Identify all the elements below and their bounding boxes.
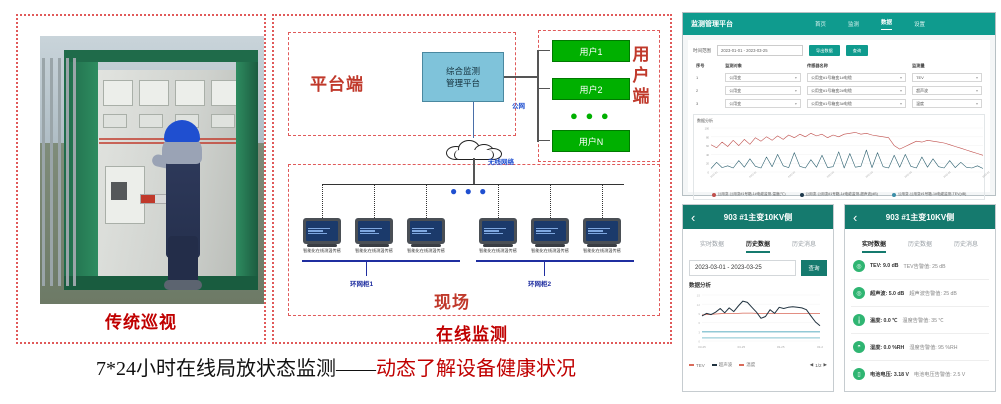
svg-text:100: 100 (705, 127, 710, 131)
filter-label: 时间范围 (693, 48, 711, 54)
mobile-realtime-header: ‹ 903 #1主变10KV侧 (845, 205, 995, 229)
wireless-net-label: 无线网络 (488, 156, 514, 166)
reading-threshold: 温度告警值: 35 ℃ (902, 317, 943, 324)
svg-text:2023-03: 2023-03 (904, 170, 913, 178)
ring-bus-2 (476, 260, 634, 262)
nav-item-monitor[interactable]: 监测 (848, 20, 859, 28)
ring-bus-1 (302, 260, 460, 262)
tab-history-data[interactable]: 历史数据 (746, 239, 770, 253)
device-drop-4 (498, 184, 499, 218)
svg-text:2023-01: 2023-01 (710, 170, 719, 178)
query-button[interactable]: 查询 (846, 45, 868, 56)
list-item: ◓ 湿度: 0.0 %RH 湿度告警值: 95 %RH (851, 334, 989, 361)
legend-item-tev: 公用变-公用变#1号箱-1#电缆监测-TEV(dB) (892, 192, 967, 197)
chevron-left-icon[interactable]: ‹ (691, 211, 695, 224)
legend-item-temp: 公用变-公用变#1号箱-1#电缆监测-温度(℃) (712, 192, 786, 197)
tab-history-data[interactable]: 历史数据 (908, 239, 932, 253)
platform-node-line1: 综合监测 (446, 65, 480, 77)
inspection-photo (40, 36, 264, 304)
reading-threshold: 超声波告警值: 25 dB (909, 290, 957, 297)
cell-sensor: 公用变#1号箱变2#电缆▾ (804, 84, 909, 97)
mobile-realtime-tabs: 实时数据 历史数据 历史消息 (851, 235, 989, 253)
monitor-device-2 (355, 218, 393, 244)
dashboard-timeseries-chart: 0204060801002023-012023-012023-022023-02… (697, 124, 993, 186)
device-drop-6 (602, 184, 603, 218)
svg-text:03-25: 03-25 (737, 345, 745, 349)
mobile-chart-legend: TEV 超声波 温度 ◀ 1/2 ▶ (689, 362, 827, 368)
dashboard-chart-legend: 公用变-公用变#1号箱-1#电缆监测-温度(℃) 公用变-公用变#1号箱-1#电… (694, 192, 984, 197)
battery-icon: ▯ (853, 368, 865, 380)
th-index: 序号 (693, 61, 722, 71)
svg-text:0: 0 (708, 171, 710, 175)
svg-text:9: 9 (698, 312, 700, 316)
svg-text:15: 15 (697, 294, 701, 298)
cabinet-panel (103, 80, 133, 106)
monitor-device-3 (407, 218, 445, 244)
main-caption: 7*24小时在线局放状态监测——动态了解设备健康状况 (0, 352, 672, 381)
table-row[interactable]: 1 公用变▾ 公用变#1号箱变1#电缆▾ TEV▾ (693, 71, 985, 84)
svg-text:2023-01: 2023-01 (749, 170, 758, 178)
cell-index: 2 (693, 84, 722, 97)
reading-value: 湿度: 0.0 %RH (870, 344, 904, 351)
fence-rail (40, 58, 76, 286)
cabinet-meter (103, 114, 127, 128)
enclosure-frame-bottom (64, 276, 258, 290)
mobile-date-input[interactable]: 2023-03-01 - 2023-03-25 (689, 260, 796, 276)
field-zone-label: 现场 (434, 288, 470, 313)
device-label-2: 智能化在线测温传感 (347, 248, 401, 254)
traditional-inspection-caption: 传统巡视 (18, 308, 264, 333)
dashboard-nav: 首页 监测 数据 设置 (815, 13, 925, 35)
cell-object: 公用变▾ (722, 97, 804, 110)
sensor-select[interactable]: 公用变#1号箱变1#电缆▾ (807, 73, 906, 82)
svg-text:03-25: 03-25 (777, 345, 785, 349)
object-select[interactable]: 公用变▾ (725, 99, 801, 108)
worker-shoe (164, 280, 202, 290)
reading-threshold: 湿度告警值: 95 %RH (909, 344, 957, 351)
list-item: ◎ TEV: 9.0 dB TEV告警值: 25 dB (851, 253, 989, 280)
ring-bus-2-tick (544, 260, 545, 276)
platform-node-line2: 管理平台 (446, 77, 480, 89)
user-bus-line (537, 50, 539, 142)
chart-pager[interactable]: ◀ 1/2 ▶ (810, 362, 827, 368)
platform-node: 综合监测 管理平台 (422, 52, 504, 102)
humidity-icon: ◓ (853, 341, 865, 353)
device-label-1: 智能化在线测温传感 (295, 248, 349, 254)
device-drop-5 (550, 184, 551, 218)
user-ellipsis: ● ● ● (570, 108, 611, 123)
dashboard-title: 监测管理平台 (691, 19, 733, 29)
monitor-device-6 (583, 218, 621, 244)
cell-object: 公用变▾ (722, 71, 804, 84)
legend-tev: TEV (689, 363, 705, 368)
svg-text:6: 6 (698, 321, 700, 325)
cell-sensor: 公用变#1号箱变3#电缆▾ (804, 97, 909, 110)
ultrasonic-icon: ◎ (853, 287, 865, 299)
ring-bus-1-label: 环网柜1 (350, 278, 373, 288)
mobile-history-header: ‹ 903 #1主变10KV侧 (683, 205, 833, 229)
mobile-section-label: 数据分析 (689, 281, 827, 289)
main-caption-red: 动态了解设备健康状况 (376, 358, 576, 380)
device-label-5: 智能化在线测温传感 (523, 248, 577, 254)
th-metric: 监测量 (909, 61, 985, 71)
svg-text:2023-02: 2023-02 (826, 170, 835, 178)
object-select[interactable]: 公用变▾ (725, 86, 801, 95)
svg-text:60: 60 (706, 144, 709, 148)
svg-text:0: 0 (698, 340, 700, 344)
cell-index: 3 (693, 97, 722, 110)
user-node-1: 用户1 (552, 40, 630, 62)
worker-legs (168, 236, 198, 284)
field-ellipsis: ● ● ● (450, 184, 488, 198)
online-monitoring-caption: 在线监测 (274, 320, 670, 345)
list-item: ▯ 电池电压: 3.18 V 电池电压告警值: 2.5 V (851, 361, 989, 387)
tab-realtime[interactable]: 实时数据 (862, 239, 886, 253)
mobile-realtime-title: 903 #1主变10KV侧 (886, 212, 954, 223)
main-caption-black: 7*24小时在线局放状态监测—— (96, 358, 376, 380)
device-drop-3 (426, 184, 427, 218)
cell-index: 1 (693, 71, 722, 84)
monitor-device-4 (479, 218, 517, 244)
cabinet-panel (139, 80, 169, 106)
export-button[interactable]: 导出数据 (809, 45, 840, 56)
tab-history-message[interactable]: 历史消息 (954, 239, 978, 253)
svg-text:80: 80 (706, 135, 709, 139)
monitor-device-1 (303, 218, 341, 244)
reading-value: 温度: 0.0 ℃ (870, 317, 897, 324)
user-link-n (538, 140, 550, 141)
cloud-platform-link (473, 102, 474, 138)
svg-text:2023-03: 2023-03 (943, 170, 952, 178)
user-node-2: 用户2 (552, 78, 630, 100)
temperature-icon: ╽ (853, 314, 865, 326)
platform-zone-label: 平台端 (310, 70, 364, 95)
list-item: ╽ 温度: 0.0 ℃ 温度告警值: 35 ℃ (851, 307, 989, 334)
svg-text:03-25: 03-25 (698, 345, 706, 349)
svg-text:2023-03: 2023-03 (982, 170, 991, 178)
user-zone-label: 用户端 (626, 44, 656, 107)
public-net-label: 公网 (512, 100, 525, 110)
user-link-2 (538, 88, 550, 89)
reading-value: 超声波: 5.0 dB (870, 290, 904, 297)
svg-text:03-2: 03-2 (817, 345, 823, 349)
th-sensor: 传感器名称 (804, 61, 909, 71)
cabinet-meter (139, 114, 163, 128)
dashboard-filter-bar: 时间范围 2023-01-01 - 2023-03-25 导出数据 查询 (693, 45, 985, 56)
legend-temp: 温度 (739, 362, 755, 368)
online-monitoring-diagram: 平台端 用户端 现场 综合监测 管理平台 用户1 用户2 用户N ● ● ● 公… (272, 14, 672, 344)
table-row[interactable]: 3 公用变▾ 公用变#1号箱变3#电缆▾ 温度▾ (693, 97, 985, 110)
cabinet-panel (211, 80, 239, 106)
metric-select[interactable]: 超声波▾ (912, 86, 982, 95)
device-drop-1 (322, 184, 323, 218)
svg-text:3: 3 (698, 330, 700, 334)
ring-bus-2-label: 环网柜2 (528, 278, 551, 288)
tev-icon: ◎ (853, 260, 865, 272)
cell-metric: 温度▾ (909, 97, 985, 110)
mobile-history-title: 903 #1主变10KV侧 (724, 212, 792, 223)
nav-item-home[interactable]: 首页 (815, 20, 826, 28)
object-select[interactable]: 公用变▾ (725, 73, 801, 82)
user-link-1 (538, 50, 550, 51)
enclosure-frame-top (64, 50, 258, 62)
mobile-query-button[interactable]: 查询 (801, 260, 827, 276)
th-object: 监测对象 (722, 61, 804, 71)
mobile-realtime-card: ‹ 903 #1主变10KV侧 实时数据 历史数据 历史消息 ◎ TEV: 9.… (844, 204, 996, 392)
chevron-left-icon[interactable]: ‹ (853, 211, 857, 224)
sensor-table: 序号 监测对象 传感器名称 监测量 1 公用变▾ 公用变#1号箱变1#电缆▾ T… (693, 61, 985, 110)
device-label-3: 智能化在线测温传感 (399, 248, 453, 254)
date-range-input[interactable]: 2023-01-01 - 2023-03-25 (717, 45, 803, 56)
platform-user-link (504, 76, 538, 78)
table-header-row: 序号 监测对象 传感器名称 监测量 (693, 61, 985, 71)
cloud-field-link (473, 158, 475, 184)
metric-select[interactable]: TEV▾ (912, 73, 982, 82)
mobile-history-body: 实时数据 历史数据 历史消息 2023-03-01 - 2023-03-25 查… (683, 229, 833, 374)
device-label-4: 智能化在线测温传感 (471, 248, 525, 254)
cabinet-meter (211, 114, 235, 128)
cell-sensor: 公用变#1号箱变1#电缆▾ (804, 71, 909, 84)
nav-item-data[interactable]: 数据 (881, 18, 892, 30)
cell-metric: 超声波▾ (909, 84, 985, 97)
ring-bus-1-tick (366, 260, 367, 276)
cell-metric: TEV▾ (909, 71, 985, 84)
nav-item-settings[interactable]: 设置 (914, 20, 925, 28)
mobile-date-row: 2023-03-01 - 2023-03-25 查询 (689, 260, 827, 276)
reading-value: 电池电压: 3.18 V (870, 371, 909, 378)
legend-ultrasonic: 超声波 (712, 362, 733, 368)
svg-text:12: 12 (697, 303, 701, 307)
cell-object: 公用变▾ (722, 84, 804, 97)
tab-history-message[interactable]: 历史消息 (792, 239, 816, 253)
svg-text:2023-02: 2023-02 (865, 170, 874, 178)
poster-root: 传统巡视 平台端 用户端 现场 综合监测 管理平台 用户1 用户2 用户N ● … (0, 0, 1001, 404)
dashboard-body: 时间范围 2023-01-01 - 2023-03-25 导出数据 查询 序号 … (688, 40, 990, 192)
svg-text:40: 40 (706, 153, 709, 157)
monitor-device-5 (531, 218, 569, 244)
svg-text:2023-02: 2023-02 (787, 170, 796, 178)
svg-text:20: 20 (706, 162, 709, 166)
cabinet-panel (175, 80, 205, 106)
cabinet-vent (111, 182, 127, 200)
mobile-chart-container: 0369121503-2503-2503-2503-2 (689, 291, 827, 361)
user-node-n: 用户N (552, 130, 630, 152)
mobile-history-card: ‹ 903 #1主变10KV侧 实时数据 历史数据 历史消息 2023-03-0… (682, 204, 834, 392)
sensor-select[interactable]: 公用变#1号箱变3#电缆▾ (807, 99, 906, 108)
traditional-inspection-panel: 传统巡视 (16, 14, 266, 344)
list-item: ◎ 超声波: 5.0 dB 超声波告警值: 25 dB (851, 280, 989, 307)
device-label-6: 智能化在线测温传感 (575, 248, 629, 254)
tab-realtime[interactable]: 实时数据 (700, 239, 724, 253)
dashboard-chart-card: 数据分析 0204060801002023-012023-012023-0220… (693, 114, 985, 200)
mobile-history-tabs: 实时数据 历史数据 历史消息 (689, 235, 827, 253)
device-drop-2 (374, 184, 375, 218)
mobile-realtime-body: 实时数据 历史数据 历史消息 ◎ TEV: 9.0 dB TEV告警值: 25 … (845, 229, 995, 393)
metric-select[interactable]: 温度▾ (912, 99, 982, 108)
legend-item-ultrasonic: 公用变-公用变#1号箱-1#电缆监测-超声波(dB) (800, 192, 878, 197)
reading-value: TEV: 9.0 dB (870, 263, 899, 269)
reading-threshold: TEV告警值: 25 dB (904, 263, 946, 270)
table-row[interactable]: 2 公用变▾ 公用变#1号箱变2#电缆▾ 超声波▾ (693, 84, 985, 97)
monitoring-dashboard: 监测管理平台 首页 监测 数据 设置 时间范围 2023-01-01 - 202… (682, 12, 996, 196)
dashboard-header: 监测管理平台 首页 监测 数据 设置 (683, 13, 995, 35)
reading-threshold: 电池电压告警值: 2.5 V (914, 371, 965, 378)
sensor-select[interactable]: 公用变#1号箱变2#电缆▾ (807, 86, 906, 95)
mobile-history-chart: 0369121503-2503-2503-2503-2 (689, 291, 827, 357)
enclosure-frame-right (236, 56, 258, 282)
